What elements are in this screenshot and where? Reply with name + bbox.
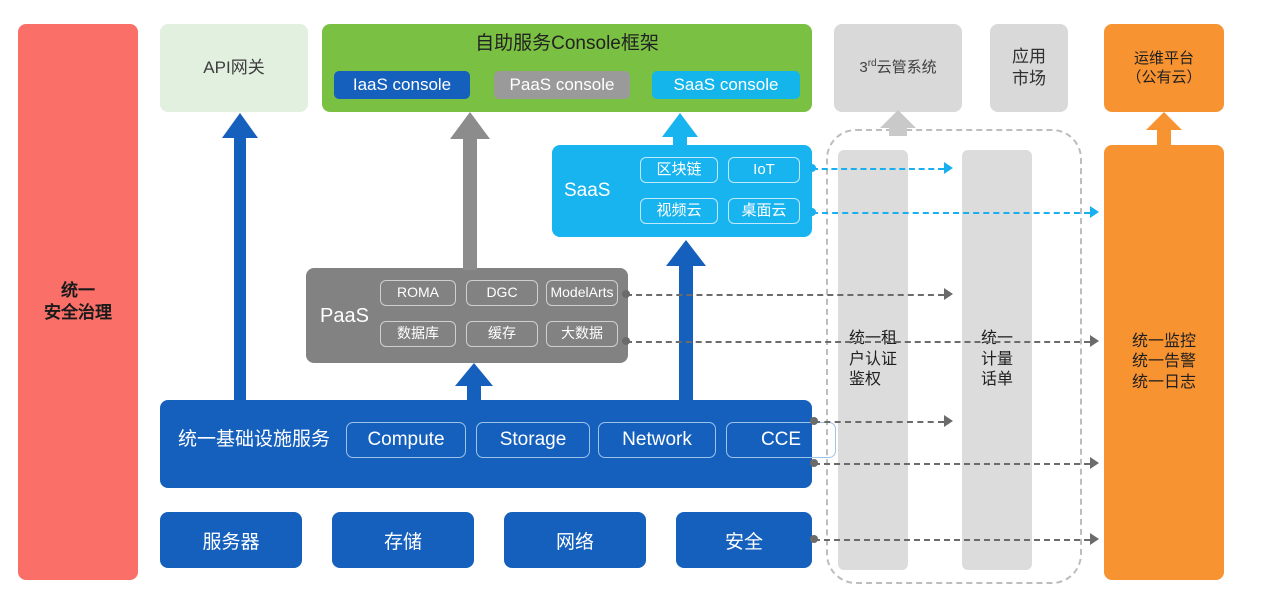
connector-arrowhead-paas-to-ops [1090,335,1099,347]
saas-console-chip[interactable]: SaaS console [652,71,800,99]
resource-box-security-label: 安全 [725,527,763,554]
paas-service-bigdata[interactable]: 大数据 [546,321,618,347]
saas-layer-block: SaaS 区块链 IoT 视频云 桌面云 [552,145,812,237]
connector-line-saas-to-auth [812,168,944,170]
third-party-superscript: rd [868,58,877,69]
paas-layer-label: PaaS [320,304,369,330]
infra-service-network[interactable]: Network [598,422,716,458]
console-framework-title: 自助服务Console框架 [322,32,812,56]
shared-service-metering-billing-label: 统一 计量 话单 [981,329,1013,391]
connector-line-infra-to-ops [814,463,1090,465]
resource-box-storage[interactable]: 存储 [332,512,474,568]
saas-service-desktop-cloud[interactable]: 桌面云 [728,198,800,224]
connector-line-infra-to-auth [814,421,944,423]
infra-service-compute-label: Compute [367,428,444,452]
connector-line-paas-to-ops [626,341,1090,343]
iaas-console-chip[interactable]: IaaS console [334,71,470,99]
self-service-console-framework: 自助服务Console框架 IaaS console PaaS console … [322,24,812,112]
paas-service-modelarts-label: ModelArts [550,284,613,302]
paas-service-dgc-label: DGC [486,284,517,302]
api-gateway-box: API网关 [160,24,308,112]
app-market-box: 应用 市场 [990,24,1068,112]
infra-to-paas-arrow-icon [455,363,493,402]
api-gateway-label: API网关 [203,57,264,79]
connector-arrowhead-infra-to-ops [1090,457,1099,469]
paas-service-dgc[interactable]: DGC [466,280,538,306]
paas-service-cache-label: 缓存 [488,325,516,343]
paas-service-cache[interactable]: 缓存 [466,321,538,347]
unified-monitoring-panel: 统一监控 统一告警 统一日志 [1104,145,1224,580]
paas-service-roma[interactable]: ROMA [380,280,456,306]
resource-box-security[interactable]: 安全 [676,512,812,568]
saas-service-blockchain-label: 区块链 [656,160,701,179]
iaas-console-label: IaaS console [353,74,451,96]
ops-platform-top-label: 运维平台 （公有云） [1126,49,1201,87]
saas-console-label: SaaS console [674,74,779,96]
api-gateway-arrow-icon [222,113,258,401]
connector-arrowhead-infra-to-auth [944,415,953,427]
paas-service-modelarts[interactable]: ModelArts [546,280,618,306]
paas-service-database-label: 数据库 [397,325,439,343]
infra-service-storage[interactable]: Storage [476,422,590,458]
unified-infrastructure-label: 统一基础设施服务 [178,428,330,452]
third-party-cloud-label: 3rd云管系统 [859,58,936,77]
infra-to-saas-arrow-icon [666,240,706,401]
connector-line-paas-to-auth [626,294,944,296]
infra-service-cce[interactable]: CCE [726,422,836,458]
saas-console-arrow-icon [662,113,698,148]
ops-platform-public-cloud-box: 运维平台 （公有云） [1104,24,1224,112]
paas-service-roma-label: ROMA [397,284,439,302]
saas-service-video-cloud[interactable]: 视频云 [640,198,718,224]
unified-monitoring-label: 统一监控 统一告警 统一日志 [1132,332,1196,393]
security-governance-label: 统一 安全治理 [44,280,112,324]
infra-service-network-label: Network [622,428,692,452]
shared-service-tenant-auth-label: 统一租 户认证 鉴权 [849,329,897,391]
connector-arrowhead-paas-to-auth [944,288,953,300]
saas-service-desktop-cloud-label: 桌面云 [741,201,786,220]
paas-console-label: PaaS console [510,74,615,96]
security-governance-panel: 统一 安全治理 [18,24,138,580]
resource-box-storage-label: 存储 [384,527,422,554]
paas-service-bigdata-label: 大数据 [561,325,603,343]
connector-arrowhead-saas-to-auth [944,162,953,174]
resource-box-server-label: 服务器 [202,527,259,554]
paas-console-chip[interactable]: PaaS console [494,71,630,99]
saas-service-iot[interactable]: IoT [728,157,800,183]
infra-service-cce-label: CCE [761,428,801,452]
paas-console-arrow-icon [450,112,490,270]
app-market-label: 应用 市场 [1012,46,1046,90]
saas-service-video-cloud-label: 视频云 [656,201,701,220]
connector-line-saas-to-ops [812,212,1090,214]
third-party-suffix: 云管系统 [877,59,937,76]
unified-infrastructure-services-bar: 统一基础设施服务 Compute Storage Network CCE [160,400,812,488]
resource-box-network-label: 网络 [556,527,594,554]
saas-layer-label: SaaS [564,179,610,203]
paas-service-database[interactable]: 数据库 [380,321,456,347]
third-party-cloud-management-box: 3rd云管系统 [834,24,962,112]
resource-box-network[interactable]: 网络 [504,512,646,568]
infra-service-compute[interactable]: Compute [346,422,466,458]
third-party-prefix: 3 [859,59,867,76]
infra-service-storage-label: Storage [500,428,567,452]
paas-layer-block: PaaS ROMA DGC ModelArts 数据库 缓存 大数据 [306,268,628,363]
connector-arrowhead-resource-to-ops [1090,533,1099,545]
ops-platform-arrow-icon [1146,112,1182,146]
resource-box-server[interactable]: 服务器 [160,512,302,568]
architecture-diagram: 统一 安全治理 API网关 自助服务Console框架 IaaS console… [0,0,1265,605]
connector-line-resource-to-ops [814,539,1090,541]
saas-service-iot-label: IoT [753,160,775,179]
saas-service-blockchain[interactable]: 区块链 [640,157,718,183]
connector-arrowhead-saas-to-ops [1090,206,1099,218]
